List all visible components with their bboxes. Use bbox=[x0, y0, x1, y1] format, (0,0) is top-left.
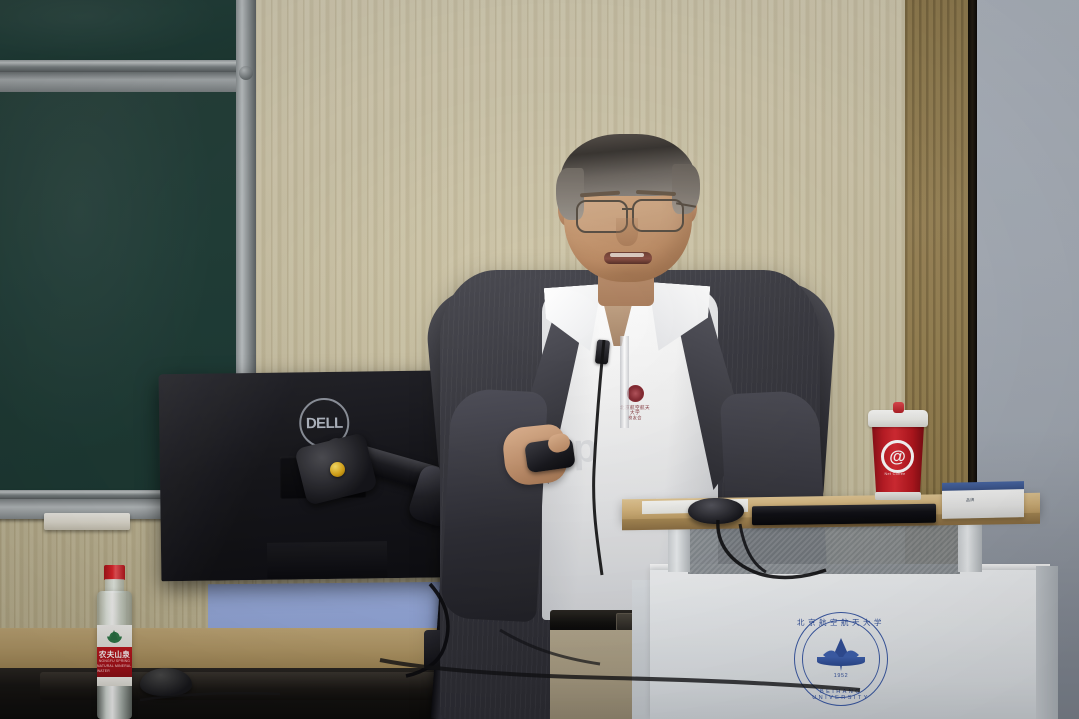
image-color-grade bbox=[0, 0, 1079, 719]
photograph-scene: 农夫山泉 NONGFU SPRING NATURAL MINERAL WATER… bbox=[0, 0, 1079, 719]
